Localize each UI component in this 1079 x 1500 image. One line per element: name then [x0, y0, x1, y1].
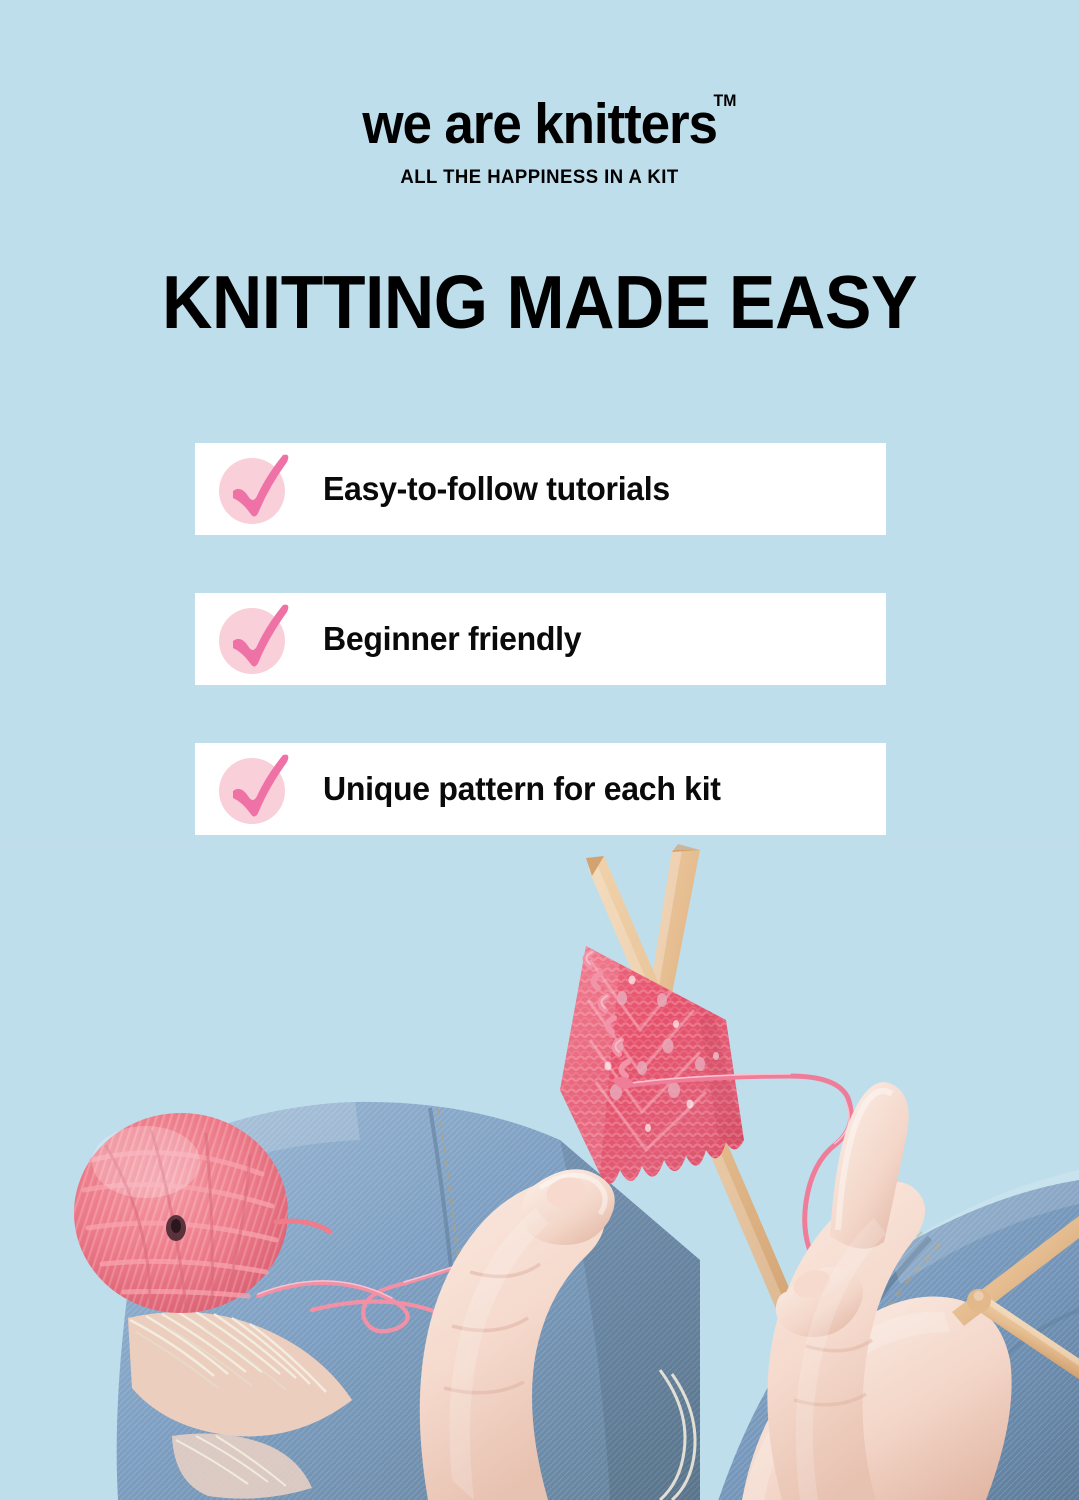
check-icon	[217, 599, 297, 679]
page-title: KNITTING MADE EASY	[38, 265, 1041, 340]
check-icon	[217, 749, 297, 829]
check-icon-wrap	[217, 743, 289, 835]
feature-list: Easy-to-follow tutorials Beginner friend…	[195, 443, 886, 835]
brand-wordmark: we are knittersTM	[362, 96, 717, 153]
feature-card: Easy-to-follow tutorials	[195, 443, 886, 535]
feature-card: Beginner friendly	[195, 593, 886, 685]
check-icon-wrap	[217, 593, 289, 685]
feature-card: Unique pattern for each kit	[195, 743, 886, 835]
brand-block: we are knittersTM ALL THE HAPPINESS IN A…	[0, 96, 1079, 189]
feature-label: Unique pattern for each kit	[323, 770, 721, 808]
feature-label: Beginner friendly	[323, 620, 581, 658]
knitting-photo	[0, 840, 1079, 1500]
poster: we are knittersTM ALL THE HAPPINESS IN A…	[0, 0, 1079, 1500]
feature-label: Easy-to-follow tutorials	[323, 470, 670, 508]
brand-wordmark-text: we are knitters	[362, 92, 717, 156]
brand-tagline: ALL THE HAPPINESS IN A KIT	[27, 166, 1052, 189]
check-icon-wrap	[217, 443, 289, 535]
check-icon	[217, 449, 297, 529]
trademark-symbol: TM	[713, 92, 736, 109]
